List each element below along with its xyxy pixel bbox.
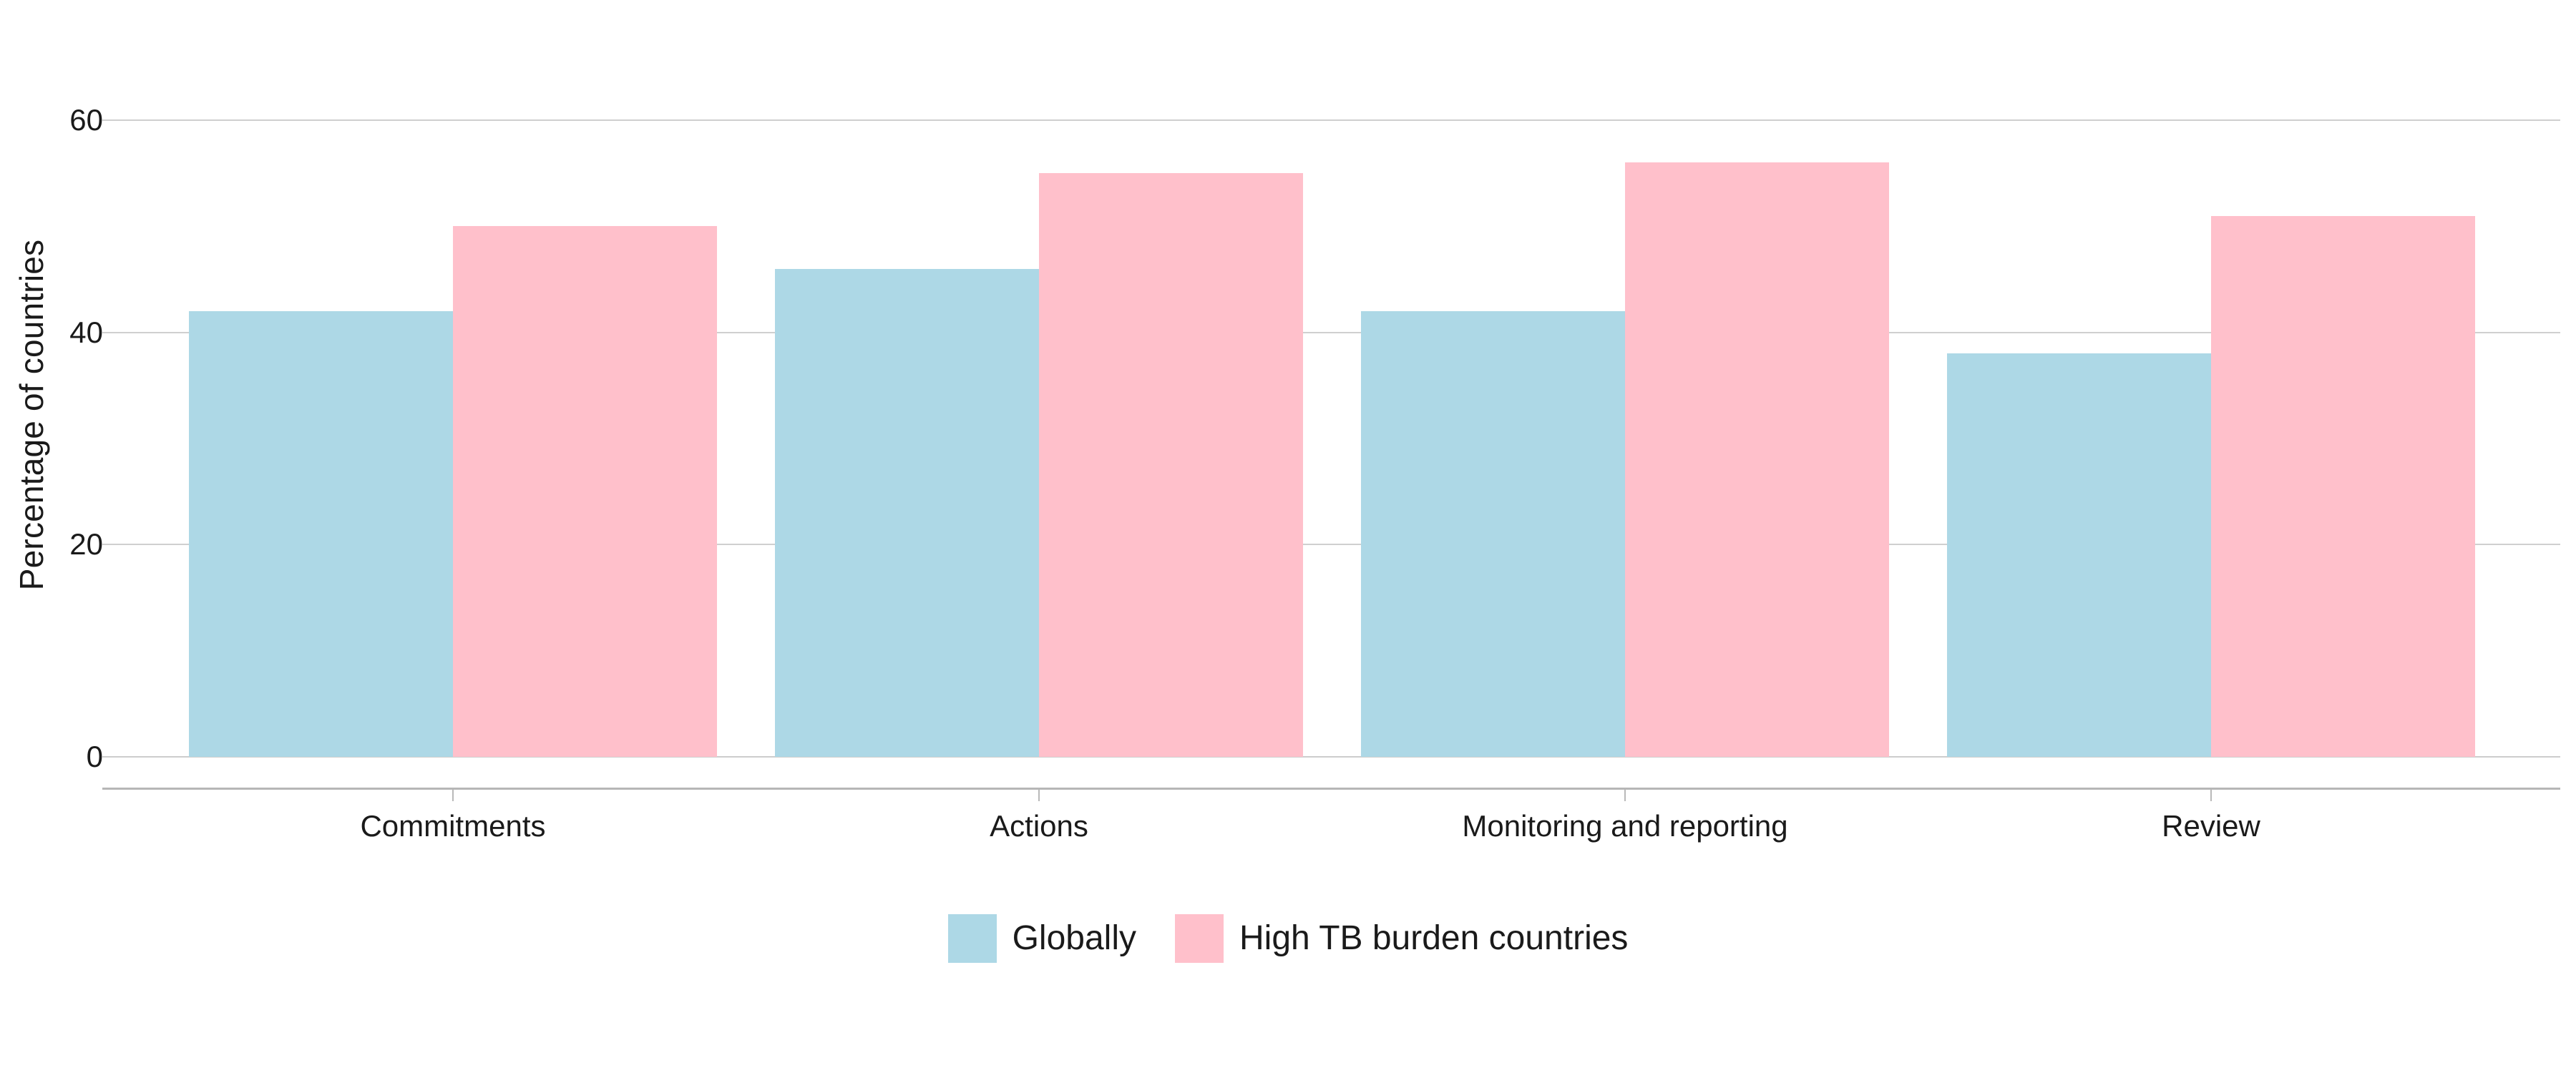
y-tick-label: 20 xyxy=(0,529,103,559)
x-axis-tick xyxy=(2210,790,2212,801)
bar[interactable] xyxy=(1361,311,1625,757)
legend-item[interactable]: Globally xyxy=(948,914,1136,963)
bar[interactable] xyxy=(189,311,453,757)
bars-layer xyxy=(0,0,2576,1073)
legend-label: Globally xyxy=(1013,921,1136,956)
chart-legend: GloballyHigh TB burden countries xyxy=(0,914,2576,963)
legend-swatch-icon xyxy=(1175,914,1224,963)
x-tick-label: Review xyxy=(2162,808,2260,844)
x-axis-tick xyxy=(452,790,454,801)
bar[interactable] xyxy=(1039,173,1303,757)
chart-canvas: Percentage of countries 6040200 Commitme… xyxy=(0,0,2576,1073)
y-tick-label: 0 xyxy=(0,742,103,772)
x-tick-label: Monitoring and reporting xyxy=(1462,808,1787,844)
legend-label: High TB burden countries xyxy=(1239,921,1628,956)
bar[interactable] xyxy=(1947,353,2211,757)
x-axis-tick xyxy=(1038,790,1040,801)
x-tick-label: Actions xyxy=(990,808,1088,844)
x-axis-line xyxy=(102,788,2560,790)
bar[interactable] xyxy=(453,226,717,757)
gridline-60 xyxy=(102,119,2560,121)
x-tick-label: Commitments xyxy=(360,808,545,844)
x-axis-tick xyxy=(1624,790,1626,801)
y-axis-title: Percentage of countries xyxy=(9,21,54,808)
bar[interactable] xyxy=(1625,162,1889,757)
legend-swatch-icon xyxy=(948,914,997,963)
y-tick-label: 40 xyxy=(0,318,103,348)
legend-item[interactable]: High TB burden countries xyxy=(1175,914,1628,963)
bar[interactable] xyxy=(2211,216,2475,758)
y-tick-label: 60 xyxy=(0,105,103,135)
bar[interactable] xyxy=(775,269,1039,757)
